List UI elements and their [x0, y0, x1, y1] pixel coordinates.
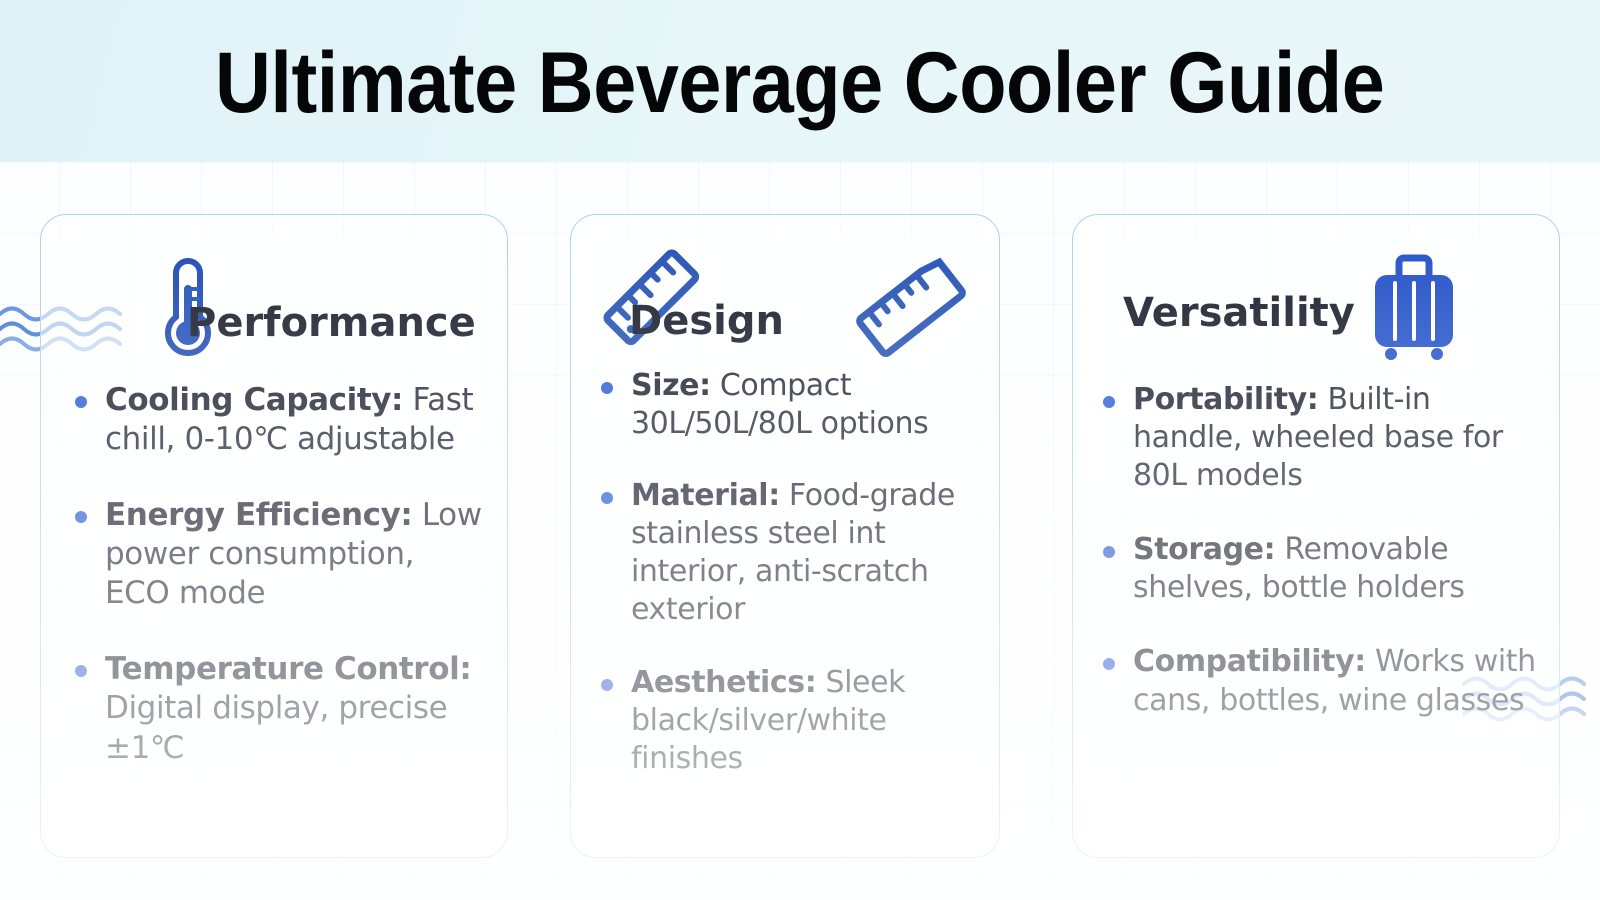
bullet-dot-icon [1103, 546, 1115, 558]
list-item: Cooling Capacity: Fast chill, 0-10℃ adju… [69, 381, 487, 460]
bullet-lead: Portability: [1133, 382, 1318, 417]
bullet-dot-icon [75, 665, 87, 677]
card-title: Design [629, 301, 784, 341]
card-title: Performance [187, 303, 476, 343]
bullet-dot-icon [601, 492, 613, 504]
feature-list: Size: Compact 30L/50L/80L options Materi… [571, 367, 999, 812]
list-item: Aesthetics: Sleek black/silver/white fin… [595, 664, 985, 778]
bullet-text: Digital display, precise ±1℃ [105, 690, 447, 765]
bullet-lead: Cooling Capacity: [105, 382, 403, 418]
bullet-dot-icon [601, 679, 613, 691]
bullet-dot-icon [601, 382, 613, 394]
page-title: Ultimate Beverage Cooler Guide [215, 40, 1384, 126]
card-header: Design [571, 215, 999, 365]
bullet-lead: Temperature Control: [105, 651, 471, 687]
feature-list: Cooling Capacity: Fast chill, 0-10℃ adju… [41, 381, 507, 768]
bullet-dot-icon [75, 396, 87, 408]
suitcase-icon [1359, 245, 1469, 363]
bullet-lead: Aesthetics: [631, 665, 816, 700]
bullet-dot-icon [1103, 658, 1115, 670]
bullet-lead: Energy Efficiency: [105, 497, 412, 533]
list-item: Temperature Control: Digital display, pr… [69, 650, 487, 768]
card-header: Versatility [1073, 215, 1559, 365]
bullet-lead: Size: [631, 368, 711, 403]
card-title: Versatility [1123, 293, 1355, 333]
list-item: Size: Compact 30L/50L/80L options [595, 367, 985, 443]
feature-card-design: Design Size: Compact 30L/50L/80L options… [570, 214, 1000, 858]
list-item: Energy Efficiency: Low power consumption… [69, 496, 487, 614]
feature-card-versatility: Versatility Portability: Built-in handle… [1072, 214, 1560, 858]
bullet-lead: Storage: [1133, 532, 1275, 567]
bullet-lead: Compatibility: [1133, 644, 1366, 679]
bullet-lead: Material: [631, 478, 780, 513]
list-item: Material: Food-grade stainless steel int… [595, 477, 985, 629]
card-header: Performance [41, 215, 507, 365]
list-item: Compatibility: Works with cans, bottles,… [1097, 643, 1545, 719]
list-item: Storage: Removable shelves, bottle holde… [1097, 531, 1545, 607]
ruler-icon [847, 243, 975, 371]
bullet-dot-icon [1103, 396, 1115, 408]
list-item: Portability: Built-in handle, wheeled ba… [1097, 381, 1545, 495]
infographic-page: Ultimate Beverage Cooler Guide [0, 0, 1600, 900]
feature-card-performance: Performance Cooling Capacity: Fast chill… [40, 214, 508, 858]
feature-list: Portability: Built-in handle, wheeled ba… [1073, 381, 1559, 756]
bullet-dot-icon [75, 511, 87, 523]
header-banner: Ultimate Beverage Cooler Guide [0, 0, 1600, 162]
